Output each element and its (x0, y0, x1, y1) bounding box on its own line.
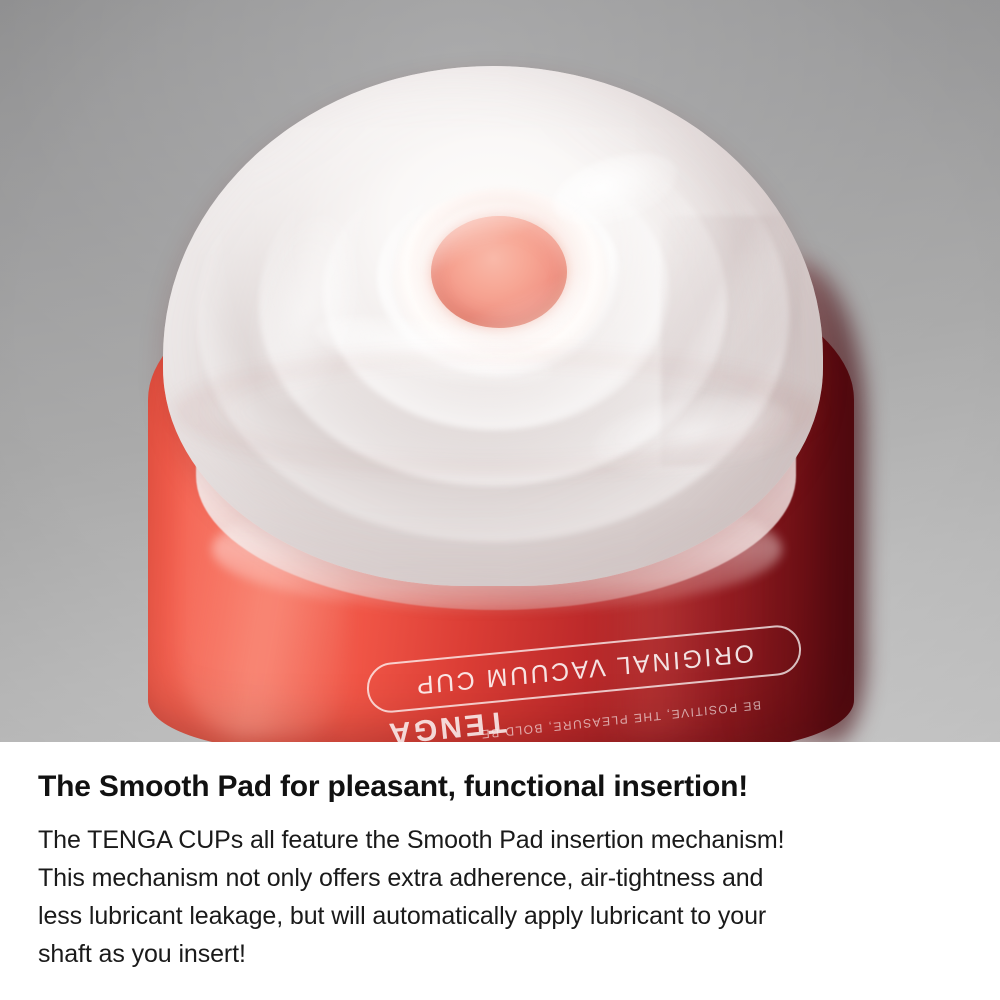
product-feature-page: TENGA BE POSITIVE, THE PLEASURE, BOLD BE… (0, 0, 1000, 1000)
copy-heading: The Smooth Pad for pleasant, functional … (38, 770, 962, 805)
copy-line-1: The TENGA CUPs all feature the Smooth Pa… (38, 821, 962, 859)
copy-body: The TENGA CUPs all feature the Smooth Pa… (38, 821, 962, 973)
copy-line-3: less lubricant leakage, but will automat… (38, 897, 962, 935)
smooth-pad (163, 66, 823, 586)
copy-line-4: shaft as you insert! (38, 935, 962, 973)
copy-line-2: This mechanism not only offers extra adh… (38, 859, 962, 897)
product-photo: TENGA BE POSITIVE, THE PLEASURE, BOLD BE… (0, 0, 1000, 742)
copy-panel: The Smooth Pad for pleasant, functional … (0, 742, 1000, 1000)
pad-gloss-highlight-bottom (589, 384, 797, 485)
pad-opening (431, 216, 567, 328)
pad-gloss-highlight-edge (237, 208, 372, 415)
